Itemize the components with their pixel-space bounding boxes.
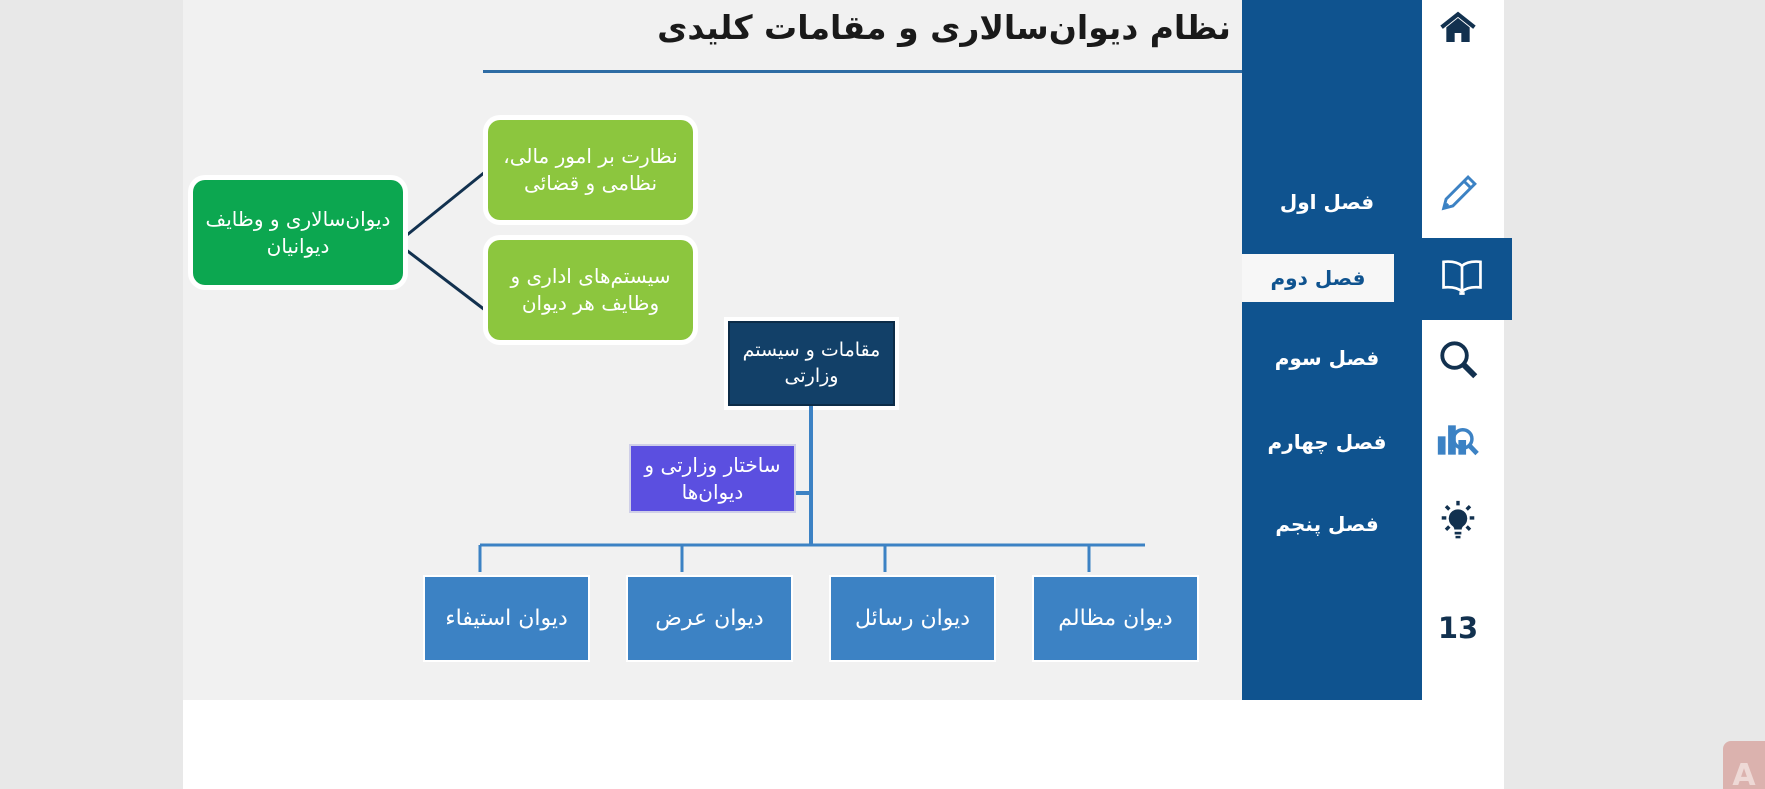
- search-button[interactable]: [1412, 320, 1504, 402]
- sidebar-item-label: فصل پنجم: [1275, 512, 1378, 536]
- node-ministerial-structure-and-divans[interactable]: ساختار وزارتی و دیوان‌ها: [629, 444, 796, 513]
- node-label: سیستم‌های اداری و وظایف هر دیوان: [498, 263, 683, 317]
- node-label: نظارت بر امور مالی، نظامی و قضائی: [498, 143, 683, 197]
- node-divan-arz[interactable]: دیوان عرض: [626, 575, 793, 662]
- node-divan-mazalem[interactable]: دیوان مظالم: [1032, 575, 1199, 662]
- home-icon: [1435, 7, 1481, 51]
- node-label: دیوان رسائل: [855, 604, 970, 634]
- sidebar-item-label: فصل چهارم: [1268, 430, 1387, 454]
- home-button[interactable]: [1412, 0, 1504, 70]
- page-number: 13: [1412, 603, 1504, 653]
- sidebar-item-chapter-4[interactable]: فصل چهارم: [1242, 418, 1412, 466]
- pdf-badge-label: A: [1732, 761, 1755, 789]
- pdf-badge[interactable]: A: [1723, 741, 1765, 789]
- sidebar-item-chapter-2[interactable]: فصل دوم: [1242, 254, 1394, 302]
- sidebar-item-chapter-1[interactable]: فصل اول: [1242, 178, 1412, 226]
- title-divider: [483, 70, 1350, 73]
- sidebar-item-chapter-5[interactable]: فصل پنجم: [1242, 500, 1412, 548]
- lightbulb-icon: [1434, 498, 1482, 548]
- sidebar-item-label: فصل اول: [1280, 190, 1374, 214]
- node-label: دیوان مظالم: [1058, 604, 1172, 634]
- page-number-value: 13: [1438, 611, 1478, 645]
- node-divan-estifa[interactable]: دیوان استیفاء: [423, 575, 590, 662]
- slide-viewer-app: نظام دیوان‌سالاری و مقامات کلیدی دیوان‌س…: [0, 0, 1765, 789]
- node-administrative-systems[interactable]: سیستم‌های اداری و وظایف هر دیوان: [488, 240, 693, 340]
- node-ministries-and-ministerial-system[interactable]: مقامات و سیستم وزارتی: [728, 321, 895, 406]
- book-icon: [1437, 255, 1487, 303]
- node-label: مقامات و سیستم وزارتی: [740, 338, 883, 389]
- node-label: دیوان عرض: [655, 604, 763, 634]
- node-bureaucracy-duties[interactable]: دیوان‌سالاری و وظایف دیوانیان: [193, 180, 403, 285]
- sidebar-item-label: فصل سوم: [1275, 346, 1379, 370]
- node-label: دیوان استیفاء: [445, 604, 568, 634]
- node-label: دیوان‌سالاری و وظایف دیوانیان: [203, 206, 393, 260]
- annotate-button[interactable]: [1412, 155, 1504, 237]
- sidebar-item-chapter-3[interactable]: فصل سوم: [1242, 334, 1412, 382]
- sidebar-item-label: فصل دوم: [1271, 266, 1366, 290]
- node-divan-rasael[interactable]: دیوان رسائل: [829, 575, 996, 662]
- chart-search-icon: [1434, 418, 1482, 466]
- node-label: ساختار وزارتی و دیوان‌ها: [641, 452, 784, 506]
- read-button[interactable]: [1412, 238, 1512, 320]
- node-financial-military-judicial-oversight[interactable]: نظارت بر امور مالی، نظامی و قضائی: [488, 120, 693, 220]
- statistics-button[interactable]: [1412, 401, 1504, 483]
- pencil-icon: [1436, 172, 1480, 220]
- search-icon: [1435, 336, 1481, 386]
- hint-button[interactable]: [1412, 482, 1504, 564]
- chapter-sidebar: فصل اول فصل دوم فصل سوم فصل چهارم فصل پن…: [1242, 0, 1412, 700]
